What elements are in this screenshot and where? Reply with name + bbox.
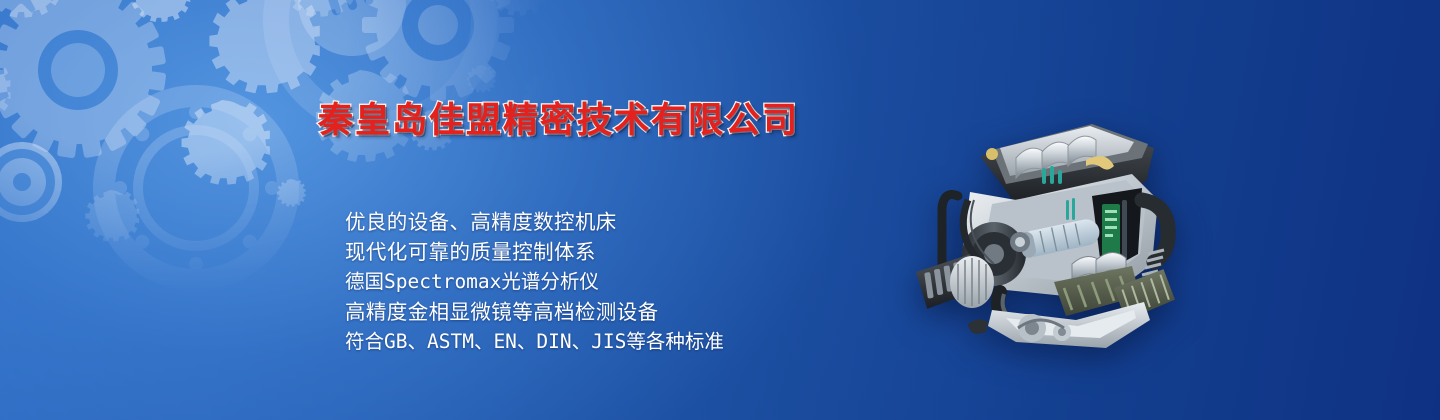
feature-list: 优良的设备、高精度数控机床 现代化可靠的质量控制体系 德国Spectromax光…	[345, 207, 724, 357]
company-banner: 秦皇岛佳盟精密技术有限公司 秦皇岛佳盟精密技术有限公司 优良的设备、高精度数控机…	[0, 0, 1440, 420]
list-item: 符合GB、ASTM、EN、DIN、JIS等各种标准	[345, 327, 724, 357]
list-item: 现代化可靠的质量控制体系	[345, 237, 724, 267]
list-item: 高精度金相显微镜等高档检测设备	[345, 297, 724, 327]
list-item: 德国Spectromax光谱分析仪	[345, 267, 724, 297]
list-item: 优良的设备、高精度数控机床	[345, 207, 724, 237]
cutaway-car-engine-photo	[896, 104, 1188, 366]
page-title-fill: 秦皇岛佳盟精密技术有限公司	[318, 99, 799, 143]
